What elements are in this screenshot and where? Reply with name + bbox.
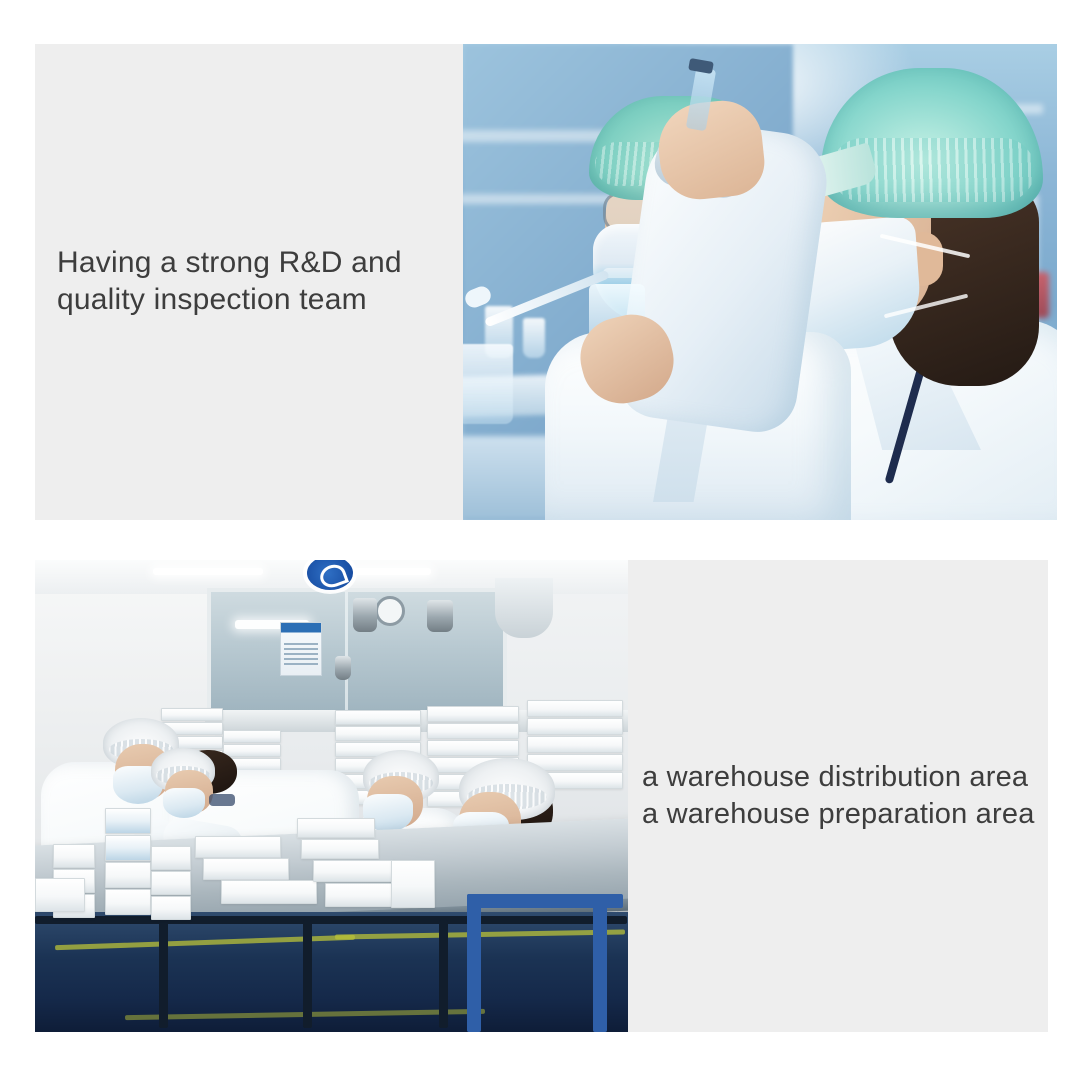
carton-box bbox=[391, 860, 435, 908]
carton-box bbox=[221, 880, 317, 904]
carton-box bbox=[313, 860, 397, 882]
extraction-hood-icon bbox=[495, 578, 553, 638]
table-leg bbox=[303, 920, 312, 1028]
carton-box bbox=[335, 726, 421, 741]
carton-box bbox=[105, 862, 151, 888]
top-section: Having a strong R&D and quality inspecti… bbox=[35, 44, 1057, 520]
canister-icon bbox=[427, 600, 453, 632]
carton-box bbox=[223, 730, 281, 743]
bottom-caption-panel: a warehouse distribution area a warehous… bbox=[628, 560, 1048, 1032]
bottom-photo-warehouse-packing bbox=[35, 560, 628, 1032]
carton-box bbox=[151, 846, 191, 870]
ceiling-light-icon bbox=[153, 568, 263, 575]
carton-box bbox=[151, 896, 191, 920]
surgical-mask-icon bbox=[163, 788, 205, 818]
carton-box bbox=[53, 844, 95, 868]
carton-box bbox=[195, 836, 281, 858]
carton-box bbox=[105, 808, 151, 834]
table-frame-rail bbox=[35, 916, 627, 924]
carton-box bbox=[301, 839, 379, 859]
top-caption-text: Having a strong R&D and quality inspecti… bbox=[57, 245, 463, 318]
carton-box bbox=[527, 736, 623, 753]
canister-icon bbox=[335, 656, 351, 680]
carton-box bbox=[427, 706, 519, 722]
carton-box bbox=[203, 858, 289, 880]
carton-box bbox=[151, 871, 191, 895]
bottom-section: a warehouse distribution area a warehous… bbox=[35, 560, 1048, 1032]
table-leg bbox=[467, 894, 481, 1032]
carton-box bbox=[105, 889, 151, 915]
table-leg bbox=[593, 894, 607, 1032]
sign-text-lines bbox=[284, 640, 318, 668]
badge-icon bbox=[209, 794, 235, 806]
carton-box bbox=[105, 835, 151, 861]
beaker-icon bbox=[463, 344, 513, 424]
carton-box bbox=[527, 700, 623, 717]
table-leg bbox=[159, 920, 168, 1028]
carton-box bbox=[527, 718, 623, 735]
carton-box bbox=[335, 710, 421, 725]
wall-clock-icon bbox=[375, 596, 405, 626]
carton-box bbox=[427, 723, 519, 739]
bottom-caption-text: a warehouse distribution area a warehous… bbox=[642, 759, 1048, 833]
hairnet-cap-icon bbox=[821, 68, 1043, 218]
carton-box bbox=[297, 818, 375, 838]
top-caption-panel: Having a strong R&D and quality inspecti… bbox=[35, 44, 463, 520]
page-root: Having a strong R&D and quality inspecti… bbox=[0, 0, 1080, 1080]
table-leg bbox=[439, 920, 448, 1028]
canister-icon bbox=[353, 598, 377, 632]
carton-box bbox=[35, 878, 85, 912]
top-photo-lab-inspection bbox=[463, 44, 1057, 520]
